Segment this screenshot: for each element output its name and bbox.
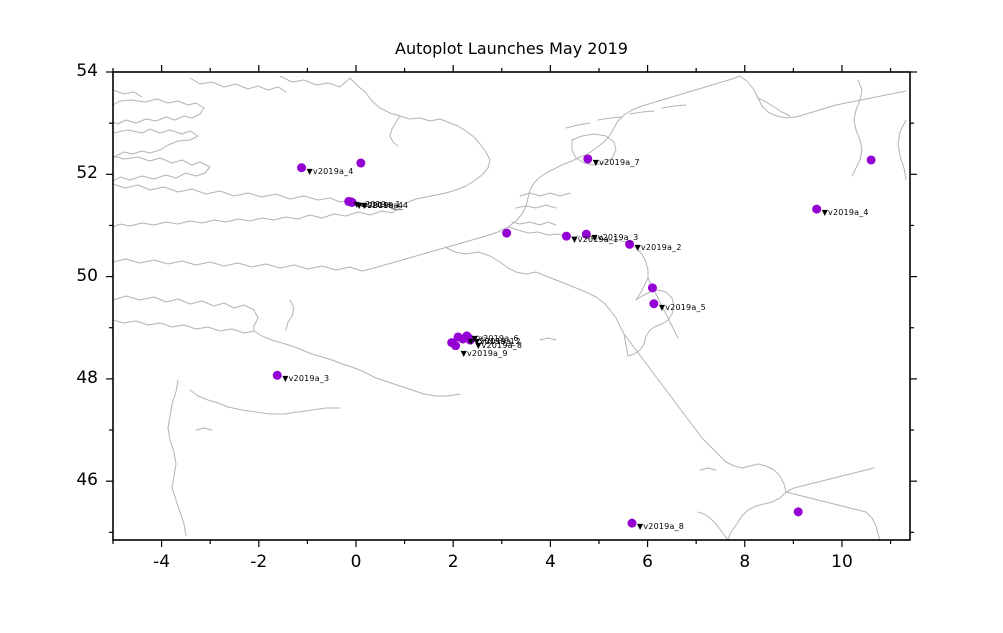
data-point-marker [867, 155, 876, 164]
data-point-marker [582, 230, 591, 239]
data-point-marker [812, 205, 821, 214]
data-point-marker [562, 232, 571, 241]
data-point-marker [273, 371, 282, 380]
x-tick-label: 2 [423, 552, 483, 572]
x-tick-label: 6 [618, 552, 678, 572]
data-point-marker [451, 341, 460, 350]
data-point-marker [348, 198, 357, 207]
y-tick-label: 46 [33, 470, 98, 490]
data-point-marker [466, 336, 475, 345]
data-point-marker [794, 507, 803, 516]
data-point-marker [502, 229, 511, 238]
plot-axes [0, 0, 1003, 633]
y-tick-label: 52 [33, 163, 98, 183]
data-point-marker [356, 159, 365, 168]
y-tick-label: 54 [33, 61, 98, 81]
data-point-marker [648, 283, 657, 292]
x-tick-label: 10 [812, 552, 872, 572]
plot-background [113, 72, 910, 540]
data-point-marker [628, 519, 637, 528]
x-tick-label: -2 [229, 552, 289, 572]
data-point-marker [625, 240, 634, 249]
y-tick-label: 48 [33, 368, 98, 388]
data-point-marker [649, 299, 658, 308]
y-tick-label: 50 [33, 266, 98, 286]
x-tick-label: 8 [715, 552, 775, 572]
data-point-marker [583, 154, 592, 163]
figure-canvas: Autoplot Launches May 2019 [0, 0, 1003, 633]
data-point-marker [297, 163, 306, 172]
x-tick-label: -4 [132, 552, 192, 572]
x-tick-label: 0 [326, 552, 386, 572]
x-tick-label: 4 [520, 552, 580, 572]
